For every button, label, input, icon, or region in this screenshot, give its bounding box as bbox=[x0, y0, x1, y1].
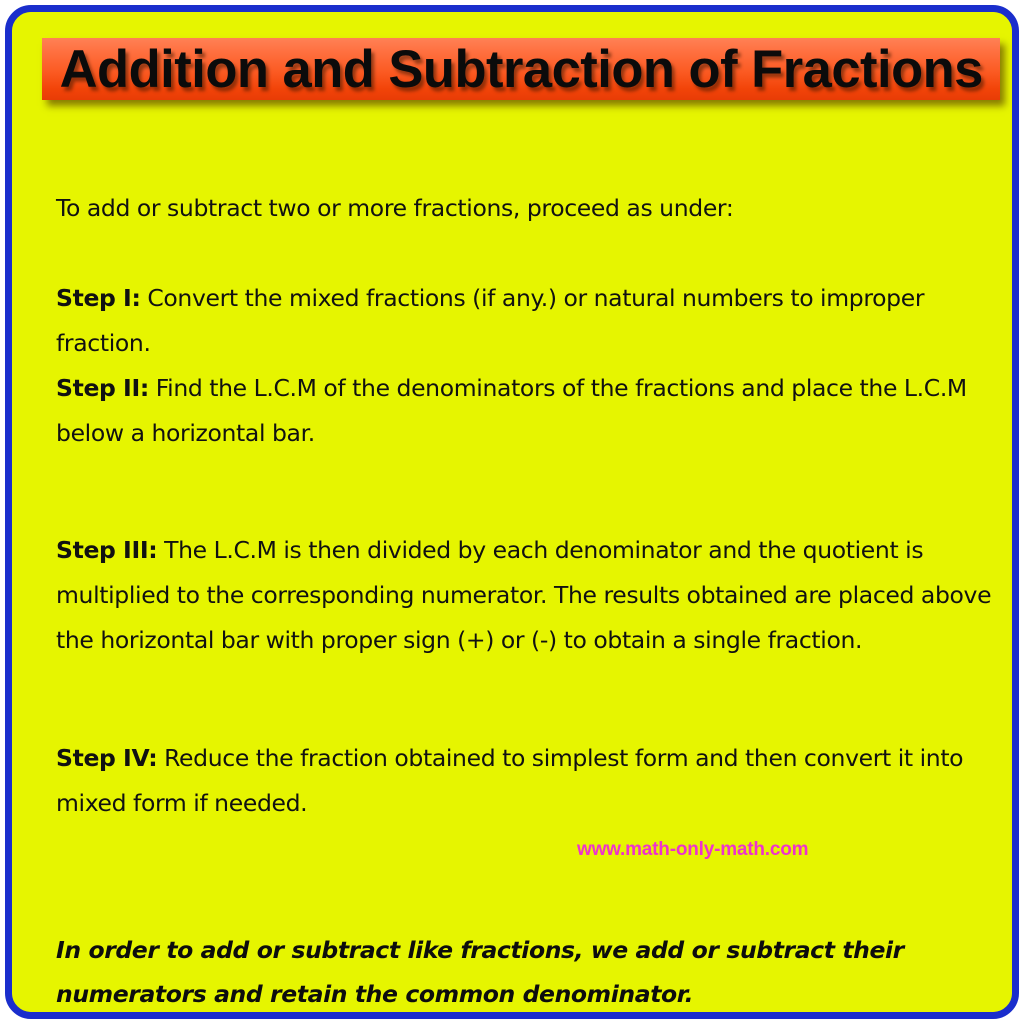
step-1-label: Step I: bbox=[56, 284, 141, 312]
step-3-label: Step III: bbox=[56, 536, 157, 564]
step-4-label: Step IV: bbox=[56, 744, 157, 772]
step-3-text: The L.C.M is then divided by each denomi… bbox=[56, 536, 991, 654]
step-2-label: Step II: bbox=[56, 374, 149, 402]
step-2-text: Find the L.C.M of the denominators of th… bbox=[56, 374, 967, 447]
closing-note: In order to add or subtract like fractio… bbox=[56, 928, 1008, 1016]
poster-inner-surface: Addition and Subtraction of Fractions To… bbox=[12, 12, 1012, 1012]
step-1-paragraph: Step I: Convert the mixed fractions (if … bbox=[56, 276, 1008, 366]
intro-paragraph: To add or subtract two or more fractions… bbox=[56, 186, 1008, 231]
page-title: Addition and Subtraction of Fractions bbox=[59, 43, 982, 96]
step-2-paragraph: Step II: Find the L.C.M of the denominat… bbox=[56, 366, 1008, 456]
lesson-poster: Addition and Subtraction of Fractions To… bbox=[5, 5, 1019, 1019]
step-4-text: Reduce the fraction obtained to simplest… bbox=[56, 744, 963, 817]
title-banner: Addition and Subtraction of Fractions bbox=[42, 38, 1000, 100]
step-1-text: Convert the mixed fractions (if any.) or… bbox=[56, 284, 924, 357]
watermark-url: www.math-only-math.com bbox=[577, 839, 808, 861]
step-3-paragraph: Step III: The L.C.M is then divided by e… bbox=[56, 528, 1008, 663]
step-4-paragraph: Step IV: Reduce the fraction obtained to… bbox=[56, 736, 1008, 826]
